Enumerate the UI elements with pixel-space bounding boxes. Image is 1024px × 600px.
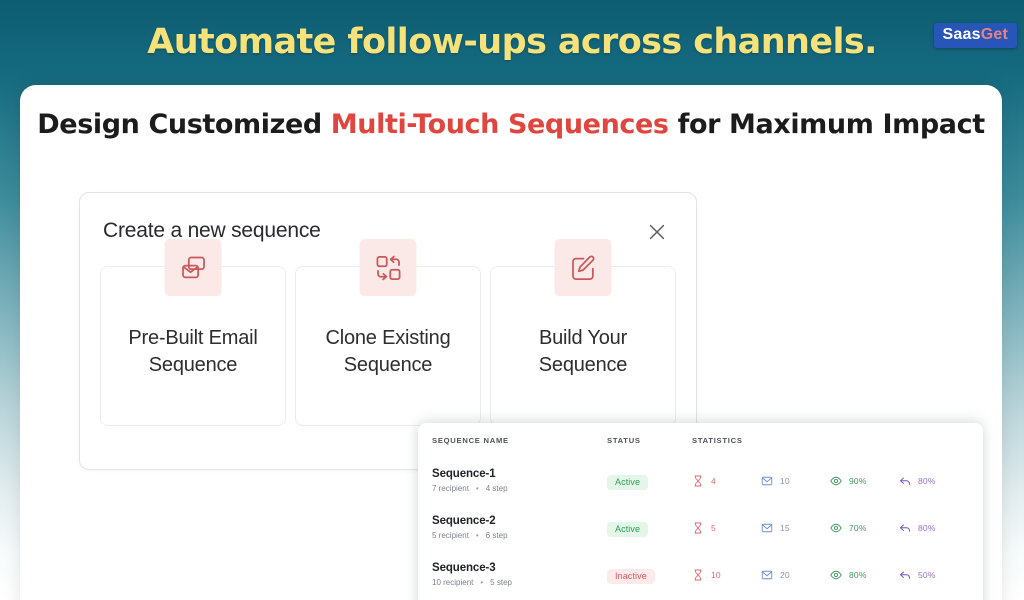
stat-mails: 20 [761, 569, 830, 581]
reply-arrow-icon [899, 522, 911, 534]
status-cell: Active [607, 472, 692, 490]
stat-steps: 5 [692, 522, 761, 534]
reply-arrow-icon [899, 569, 911, 581]
sequence-table-panel: SEQUENCE NAME STATUS STATISTICS Sequence… [418, 423, 983, 600]
step-count: 5 step [490, 578, 512, 587]
step-count: 6 step [486, 531, 508, 540]
stat-value: 80% [918, 523, 936, 533]
column-header-sequence-name: SEQUENCE NAME [432, 436, 607, 445]
statistics-cell: 4 10 90% [692, 475, 983, 487]
hero-title: Automate follow-ups across channels. [0, 22, 1024, 62]
stacked-mail-icon [165, 239, 222, 296]
modal-header: Create a new sequence [80, 193, 696, 243]
eye-icon [830, 569, 842, 581]
sequence-title: Sequence-1 [432, 468, 607, 480]
envelope-icon [761, 475, 773, 487]
logo-text-saas: Saas [943, 26, 981, 43]
page-title-accent: Multi-Touch Sequences [331, 109, 669, 140]
step-count: 4 step [486, 484, 508, 493]
logo-text-get: Get [981, 26, 1008, 43]
stat-value: 10 [711, 570, 721, 580]
sequence-meta: 10 recipient • 5 step [432, 578, 607, 587]
recipient-count: 10 recipient [432, 578, 473, 587]
stat-value: 15 [780, 523, 790, 533]
envelope-icon [761, 569, 773, 581]
eye-icon [830, 475, 842, 487]
stat-mails: 15 [761, 522, 830, 534]
option-card-build-your-sequence[interactable]: Build Your Sequence [490, 266, 676, 426]
option-label: Build Your Sequence [491, 325, 675, 379]
stat-value: 50% [918, 570, 936, 580]
reply-arrow-icon [899, 475, 911, 487]
option-label: Pre-Built Email Sequence [101, 325, 285, 379]
stat-replies: 50% [899, 569, 968, 581]
status-badge: Active [607, 475, 648, 490]
stat-steps: 4 [692, 475, 761, 487]
sequence-name-cell: Sequence-2 5 recipient • 6 step [432, 515, 607, 540]
stat-value: 4 [711, 476, 716, 486]
table-header-row: SEQUENCE NAME STATUS STATISTICS [418, 423, 983, 457]
page-title-suffix: for Maximum Impact [669, 109, 985, 140]
statistics-cell: 5 15 70% [692, 522, 983, 534]
stat-value: 20 [780, 570, 790, 580]
hero-banner: Automate follow-ups across channels. [0, 22, 1024, 62]
table-row[interactable]: Sequence-2 5 recipient • 6 step Active 5 [418, 504, 983, 551]
stat-opens: 80% [830, 569, 899, 581]
meta-separator: • [476, 531, 479, 540]
status-cell: Inactive [607, 566, 692, 584]
saasget-logo: SaasGet [934, 23, 1017, 48]
stat-value: 80% [918, 476, 936, 486]
status-badge: Active [607, 522, 648, 537]
stat-steps: 10 [692, 569, 761, 581]
stat-replies: 80% [899, 475, 968, 487]
content-panel: Design Customized Multi-Touch Sequences … [20, 85, 1002, 600]
option-card-clone-existing-sequence[interactable]: Clone Existing Sequence [295, 266, 481, 426]
sequence-name-cell: Sequence-1 7 recipient • 4 step [432, 468, 607, 493]
stat-opens: 90% [830, 475, 899, 487]
status-badge: Inactive [607, 569, 655, 584]
meta-separator: • [476, 484, 479, 493]
stat-replies: 80% [899, 522, 968, 534]
sequence-title: Sequence-2 [432, 515, 607, 527]
option-label: Clone Existing Sequence [296, 325, 480, 379]
option-card-prebuilt-email-sequence[interactable]: Pre-Built Email Sequence [100, 266, 286, 426]
recipient-count: 7 recipient [432, 484, 469, 493]
hourglass-icon [692, 569, 704, 581]
stat-value: 5 [711, 523, 716, 533]
table-row[interactable]: Sequence-3 10 recipient • 5 step Inactiv… [418, 551, 983, 598]
column-header-status: STATUS [607, 436, 692, 445]
edit-square-icon [555, 239, 612, 296]
table-row[interactable]: Sequence-1 7 recipient • 4 step Active 4 [418, 457, 983, 504]
hourglass-icon [692, 522, 704, 534]
stat-value: 10 [780, 476, 790, 486]
envelope-icon [761, 522, 773, 534]
stat-value: 90% [849, 476, 867, 486]
stat-mails: 10 [761, 475, 830, 487]
sequence-name-cell: Sequence-3 10 recipient • 5 step [432, 562, 607, 587]
close-icon[interactable] [646, 221, 668, 243]
statistics-cell: 10 20 80% [692, 569, 983, 581]
eye-icon [830, 522, 842, 534]
recipient-count: 5 recipient [432, 531, 469, 540]
sequence-title: Sequence-3 [432, 562, 607, 574]
meta-separator: • [480, 578, 483, 587]
page-title: Design Customized Multi-Touch Sequences … [20, 109, 1002, 140]
status-cell: Active [607, 519, 692, 537]
stat-value: 70% [849, 523, 867, 533]
page-title-prefix: Design Customized [37, 109, 331, 140]
swap-squares-icon [360, 239, 417, 296]
sequence-meta: 7 recipient • 4 step [432, 484, 607, 493]
stat-opens: 70% [830, 522, 899, 534]
stat-value: 80% [849, 570, 867, 580]
sequence-meta: 5 recipient • 6 step [432, 531, 607, 540]
sequence-option-list: Pre-Built Email Sequence Clone Existing … [80, 243, 696, 426]
hourglass-icon [692, 475, 704, 487]
column-header-statistics: STATISTICS [692, 436, 983, 445]
